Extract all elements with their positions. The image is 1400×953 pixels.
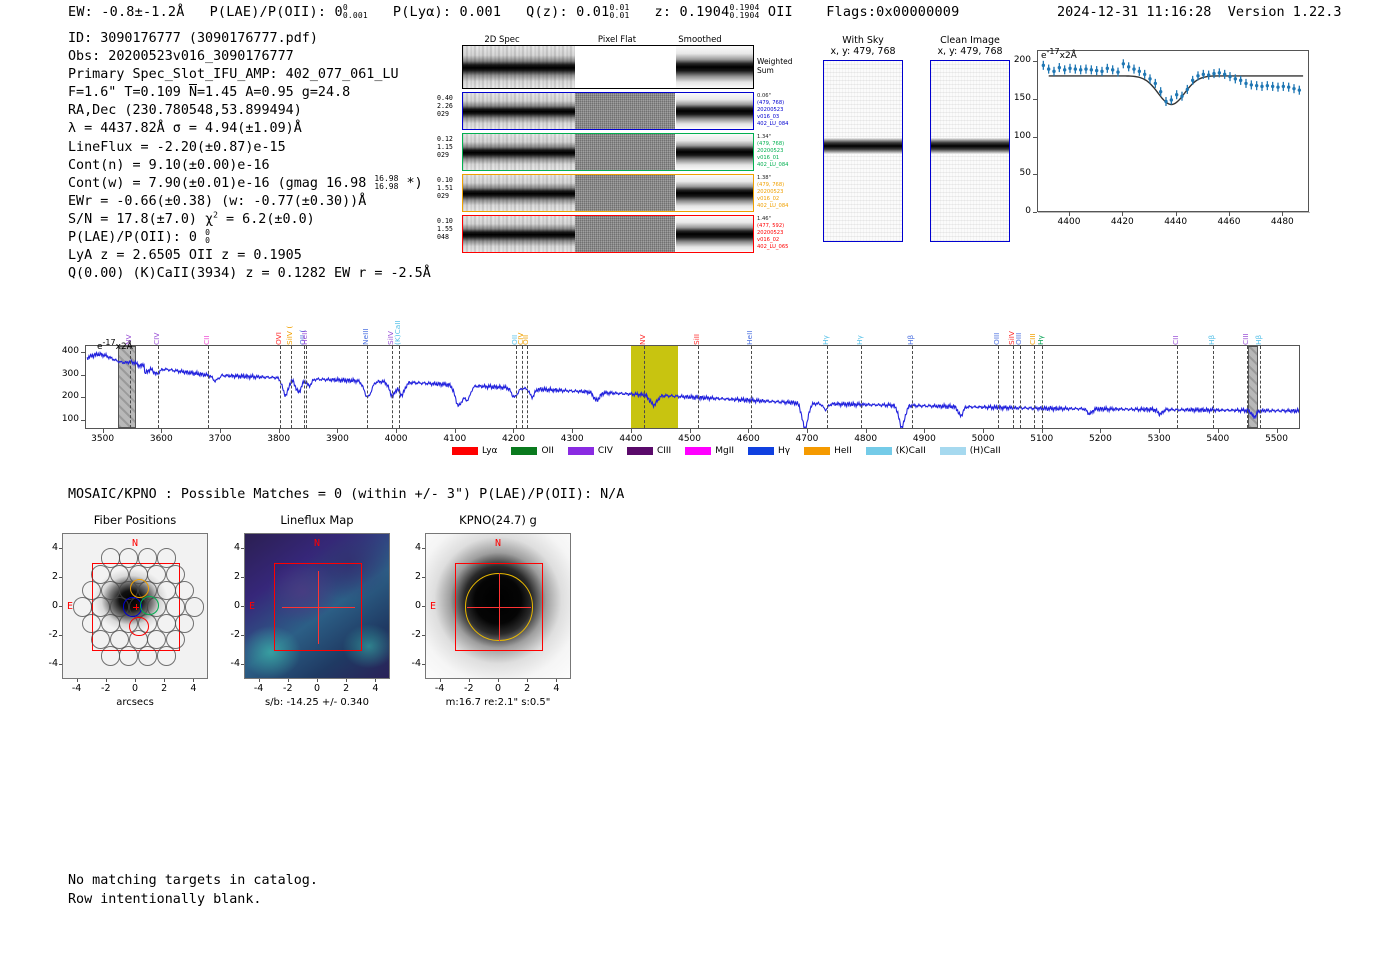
spec2d-segment-2 <box>676 134 753 170</box>
spec2d-row-right-values: 0.06"(479, 768)20200523v016_03402_LU_084 <box>757 93 817 128</box>
spectrum-xtick: 4200 <box>488 434 538 444</box>
fiber-circle <box>119 646 138 665</box>
image-panel-2: NE <box>425 533 571 679</box>
weighted-sum-segment-0 <box>463 46 575 88</box>
spectrum-line-marker <box>1260 346 1261 428</box>
image-panel-xtick-mark <box>527 679 528 682</box>
image-panel-ytick-mark <box>422 606 425 607</box>
image-panel-ytick-mark <box>422 635 425 636</box>
spectrum-line-label: NV <box>639 310 646 345</box>
spectrum-xtick-mark <box>513 429 514 433</box>
image-panel-ytick-mark <box>241 664 244 665</box>
image-panel-xtick: -2 <box>454 683 484 694</box>
image-panel-ytick-mark <box>59 664 62 665</box>
spectrum-line-marker <box>158 346 159 428</box>
header-ew: EW: -0.8±-1.2Å <box>68 4 185 20</box>
fiber-circle <box>175 614 194 633</box>
spec2d-right-value: 1.46" <box>757 216 817 223</box>
spectrum-legend-swatch <box>568 447 594 455</box>
spectrum-xtick: 4900 <box>899 434 949 444</box>
spec2d-right-value: (479, 768) <box>757 141 817 148</box>
detection-info-block: ID: 3090176777 (3090176777.pdf) Obs: 202… <box>68 30 431 283</box>
spectrum-line-label: Hγ <box>822 310 829 345</box>
spectrum-xtick-mark <box>103 429 104 433</box>
image-panel-ytick: -2 <box>36 629 58 640</box>
line-fit-xtick: 4400 <box>1049 217 1089 227</box>
spectrum-line-marker <box>367 346 368 428</box>
image-panel-ytick-mark <box>422 664 425 665</box>
line-fit-ytick-mark <box>1033 61 1037 62</box>
image-panel-xtick-mark <box>317 679 318 682</box>
image-panel-xtick: 0 <box>302 683 332 694</box>
line-fit-xtick-mark <box>1069 212 1070 216</box>
spectrum-xtick-mark <box>337 429 338 433</box>
spec2d-segment-0 <box>463 134 575 170</box>
spec2d-segment-2 <box>676 175 753 211</box>
header-qz-label: Q(z): 0.01 <box>526 4 609 20</box>
spectrum-line-marker <box>208 346 209 428</box>
spectrum-line-marker <box>1013 346 1014 428</box>
spectrum-xtick-mark <box>279 429 280 433</box>
image-panel-xtick-mark <box>135 679 136 682</box>
image-panel-ytick: -4 <box>36 658 58 669</box>
spectrum-xtick: 3900 <box>312 434 362 444</box>
spec2d-right-value: v016_02 <box>757 196 817 203</box>
spectrum-ytick: 200 <box>51 391 79 401</box>
image-panel-xtick: 0 <box>483 683 513 694</box>
image-panel-ytick: -2 <box>399 629 421 640</box>
spectrum-xtick-mark <box>455 429 456 433</box>
spectrum-xtick-mark <box>1218 429 1219 433</box>
image-panel-xtick: -2 <box>91 683 121 694</box>
image-panel-ytick: -2 <box>218 629 240 640</box>
spectrum-legend-label: CIII <box>657 446 671 456</box>
spectrum-legend-swatch <box>685 447 711 455</box>
spec2d-right-value: 20200523 <box>757 230 817 237</box>
image-panel-1: NE <box>244 533 390 679</box>
image-panel-ytick: 2 <box>36 571 58 582</box>
spectrum-line-label: CIII <box>1029 281 1036 345</box>
spectrum-line-label: NeIII <box>362 310 369 345</box>
spectrum-xtick-mark <box>1100 429 1101 433</box>
line-fit-ytick: 50 <box>1005 168 1031 178</box>
spectrum-xtick-mark <box>866 429 867 433</box>
spectrum-legend-swatch <box>804 447 830 455</box>
weighted-sum-panel <box>462 45 754 89</box>
line-fit-ytick: 150 <box>1005 93 1031 103</box>
image-panel-xtick: 0 <box>120 683 150 694</box>
spec2d-right-value: v016_03 <box>757 114 817 121</box>
spectrum-xtick-mark <box>161 429 162 433</box>
footer-notes: No matching targets in catalog. Row inte… <box>68 872 318 909</box>
spectrum-line-marker <box>861 346 862 428</box>
info-redshifts: LyA z = 2.6505 OII z = 0.1905 <box>68 247 431 265</box>
line-fit-ytick: 0 <box>1005 206 1031 216</box>
spec2d-right-value: 402_LU_084 <box>757 121 817 128</box>
spectrum-line-marker <box>306 346 307 428</box>
info-primary-spec: Primary Spec_Slot_IFU_AMP: 402_077_061_L… <box>68 66 431 84</box>
spectrum-line-label: OIII <box>993 310 1000 345</box>
spectrum-line-label: HeII <box>301 310 308 345</box>
crosshair-v <box>318 571 319 644</box>
fiber-circle <box>138 646 157 665</box>
weighted-sum-label: Weighted <box>757 57 793 66</box>
spectrum-line-marker <box>399 346 400 428</box>
image-panel-north-label: N <box>132 538 138 549</box>
sky-panel-image-0 <box>823 60 903 242</box>
image-panel-title-1: Lineflux Map <box>222 513 412 527</box>
spectrum-series <box>86 346 1300 429</box>
spectrum-line-marker <box>1034 346 1035 428</box>
spectrum-xtick-mark <box>690 429 691 433</box>
line-fit-ytick: 100 <box>1005 131 1031 141</box>
image-panel-ytick: 4 <box>218 542 240 553</box>
spectrum-legend-swatch <box>866 447 892 455</box>
info-radec: RA,Dec (230.780548,53.899494) <box>68 102 431 120</box>
spectrum-xtick: 4500 <box>665 434 715 444</box>
header-plya: P(Lyα): 0.001 <box>393 4 501 20</box>
info-cont-w: Cont(w) = 7.90(±0.01)e-16 (gmag 16.98 16… <box>68 175 431 193</box>
image-panel-ytick-mark <box>241 577 244 578</box>
spectrum-line-label: CII <box>1172 310 1179 345</box>
fiber-circle <box>110 565 129 584</box>
line-fit-yunit: e-17x2Å <box>1041 51 1077 61</box>
spectrum-line-marker <box>827 346 828 428</box>
spectrum-xtick-mark <box>1277 429 1278 433</box>
fiber-circle-selected <box>129 617 148 636</box>
spec2d-row-right-values: 1.38"(479, 768)20200523v016_02402_LU_084 <box>757 175 817 210</box>
image-panel-caption-2: m:16.7 re:2.1" s:0.5" <box>395 697 601 708</box>
image-panel-xtick: 4 <box>360 683 390 694</box>
spectrum-line-label: OII <box>522 281 529 345</box>
spec2d-left-value: 1.15 <box>437 143 461 151</box>
image-panel-ytick-mark <box>241 548 244 549</box>
spectrum-line-label: Hβ <box>907 310 914 345</box>
spectrum-legend-swatch <box>748 447 774 455</box>
image-panel-xtick: -4 <box>244 683 274 694</box>
image-panel-ytick: 0 <box>36 600 58 611</box>
spectrum-legend-swatch <box>627 447 653 455</box>
line-fit-xtick-mark <box>1176 212 1177 216</box>
spec2d-segment-1 <box>575 134 675 170</box>
spectrum-xtick: 4600 <box>723 434 773 444</box>
image-panel-xtick: -2 <box>273 683 303 694</box>
spec2d-row-right-values: 1.46"(477, 592)20200523v016_02402_LU_065 <box>757 216 817 251</box>
image-panel-ytick-mark <box>59 577 62 578</box>
spec2d-right-value: 402_LU_084 <box>757 203 817 210</box>
crosshair-v <box>499 573 500 640</box>
image-panel-xtick: 2 <box>149 683 179 694</box>
spectrum-line-label: Hγ <box>1037 310 1044 345</box>
image-panel-ytick-mark <box>241 606 244 607</box>
spec2d-left-value: 2.26 <box>437 102 461 110</box>
info-plae-poii: P(LAE)/P(OII): 0 00 <box>68 229 431 247</box>
sky-panel-image-1 <box>930 60 1010 242</box>
fiber-circle <box>73 597 92 616</box>
image-panel-xtick-mark <box>346 679 347 682</box>
spectrum-xtick-mark <box>631 429 632 433</box>
spectrum-xtick-mark <box>1042 429 1043 433</box>
fiber-circle <box>157 614 176 633</box>
spectrum-line-label: Hγ <box>856 310 863 345</box>
image-panel-title-0: Fiber Positions <box>40 513 230 527</box>
info-ewr: EWr = -0.66(±0.38) (w: -0.77(±0.30))Å <box>68 193 431 211</box>
fiber-circle <box>119 548 138 567</box>
image-panel-xtick-mark <box>193 679 194 682</box>
spectrum-legend-label: Lyα <box>482 446 497 456</box>
spec2d-right-value: (479, 768) <box>757 182 817 189</box>
spectrum-line-marker <box>698 346 699 428</box>
spectrum-line-label: CIV <box>153 310 160 345</box>
spectrum-ytick-mark <box>81 375 85 376</box>
sky-panel-coords-0: x, y: 479, 768 <box>803 46 923 57</box>
line-fit-ytick-mark <box>1033 174 1037 175</box>
fiber-circle <box>101 646 120 665</box>
image-panel-ytick: 4 <box>36 542 58 553</box>
spec2d-title-2: Smoothed <box>660 35 740 45</box>
spectrum-legend-label: MgII <box>715 446 734 456</box>
line-fit-xtick-mark <box>1229 212 1230 216</box>
header-z-errors: 0.19040.1904 <box>729 4 759 20</box>
spectrum-ytick: 100 <box>51 414 79 424</box>
header-z-label: z: 0.1904 <box>655 4 730 20</box>
image-panel-xtick: 2 <box>512 683 542 694</box>
spectrum-xtick: 5000 <box>958 434 1008 444</box>
weighted-sum-segment-2 <box>676 46 753 88</box>
fiber-circle <box>138 548 157 567</box>
spectrum-xtick: 5400 <box>1193 434 1243 444</box>
spectrum-xtick: 5100 <box>1017 434 1067 444</box>
spectrum-legend-swatch <box>452 447 478 455</box>
spectrum-legend-swatch <box>511 447 537 455</box>
spectrum-xtick-mark <box>924 429 925 433</box>
fiber-circle <box>185 597 204 616</box>
spec2d-right-value: 402_LU_084 <box>757 162 817 169</box>
info-obs: Obs: 20200523v016_3090176777 <box>68 48 431 66</box>
spectrum-line-marker <box>1042 346 1043 428</box>
image-panel-ytick-mark <box>241 635 244 636</box>
spectrum-legend-label: OII <box>541 446 553 456</box>
header-plae-errors: 00.001 <box>343 4 368 20</box>
spec2d-row-left-values: 0.121.15029 <box>437 135 461 160</box>
spec2d-title-1: Pixel Flat <box>577 35 657 45</box>
header-version: Version 1.22.3 <box>1228 4 1342 20</box>
line-fit-xtick-mark <box>1122 212 1123 216</box>
fiber-circle <box>166 630 185 649</box>
image-panel-xtick-mark <box>375 679 376 682</box>
spectrum-line-marker <box>1177 346 1178 428</box>
spec2d-row-left-values: 0.402.26029 <box>437 94 461 119</box>
spec2d-right-value: 0.06" <box>757 93 817 100</box>
header-datetime: 2024-12-31 11:16:28 <box>1057 4 1211 20</box>
spectrum-line-label: Hβ <box>1208 310 1215 345</box>
footer-line-1: No matching targets in catalog. <box>68 872 318 891</box>
image-panel-title-2: KPNO(24.7) g <box>403 513 593 527</box>
image-panel-ytick-mark <box>59 635 62 636</box>
spectrum-legend-swatch <box>940 447 966 455</box>
image-panel-ytick: 0 <box>218 600 240 611</box>
fiber-circle <box>157 548 176 567</box>
info-cont-n: Cont(n) = 9.10(±0.00)e-16 <box>68 157 431 175</box>
image-panel-ytick: 2 <box>399 571 421 582</box>
line-fit-ytick-mark <box>1033 212 1037 213</box>
spectrum-legend-label: (K)CaII <box>896 446 926 456</box>
line-fit-xtick: 4480 <box>1262 217 1302 227</box>
info-lambda-sigma: λ = 4437.82Å σ = 4.94(±1.09)Å <box>68 120 431 138</box>
spec2d-right-value: 20200523 <box>757 107 817 114</box>
spectrum-line-label: HeII <box>746 310 753 345</box>
image-panel-ytick-mark <box>59 548 62 549</box>
spectrum-xtick: 4000 <box>371 434 421 444</box>
line-fit-frame <box>1037 50 1309 212</box>
image-panel-ytick: -4 <box>399 658 421 669</box>
fiber-circle <box>166 565 185 584</box>
spec2d-left-value: 1.51 <box>437 184 461 192</box>
line-fit-ytick-mark <box>1033 99 1037 100</box>
spectrum-line-label: CII <box>203 310 210 345</box>
image-panel-xtick-mark <box>469 679 470 682</box>
spectrum-line-marker <box>130 346 131 428</box>
spectrum-ytick: 400 <box>51 346 79 356</box>
spectrum-xtick-mark <box>220 429 221 433</box>
spectrum-line-label: SiII <box>693 310 700 345</box>
spectrum-xtick-mark <box>1159 429 1160 433</box>
spectrum-line-label: OIII <box>1015 310 1022 345</box>
info-sn-chi2: S/N = 17.8(±7.0) χ2 = 6.2(±0.0) <box>68 211 431 229</box>
spec2d-right-value: 1.34" <box>757 134 817 141</box>
image-panel-xtick-mark <box>498 679 499 682</box>
spectrum-legend-label: CIV <box>598 446 613 456</box>
image-panel-xtick-mark <box>77 679 78 682</box>
spec2d-right-value: 1.38" <box>757 175 817 182</box>
info-seeing: F=1.6" T=0.109 N=1.45 A=0.95 g=24.8 <box>68 84 431 102</box>
spectrum-line-marker <box>522 346 523 428</box>
image-panel-xtick: -4 <box>62 683 92 694</box>
image-panel-ytick-mark <box>59 606 62 607</box>
spectrum-xtick: 5300 <box>1134 434 1184 444</box>
info-q-line: Q(0.00) (K)CaII(3934) z = 0.1282 EW r = … <box>68 265 431 283</box>
spec2d-segment-0 <box>463 216 575 252</box>
spectrum-xtick: 4300 <box>547 434 597 444</box>
spec2d-right-value: v016_02 <box>757 237 817 244</box>
image-panel-ytick: 2 <box>218 571 240 582</box>
spectrum-xtick: 4400 <box>606 434 656 444</box>
spectrum-line-label: OVI <box>275 310 282 345</box>
fiber-circle <box>82 614 101 633</box>
info-lineflux: LineFlux = -2.20(±0.87)e-15 <box>68 139 431 157</box>
image-panel-xtick-mark <box>106 679 107 682</box>
spectrum-xtick-mark <box>748 429 749 433</box>
spectrum-line-label: CIII <box>1242 310 1249 345</box>
spec2d-left-value: 029 <box>437 151 461 159</box>
spec2d-left-value: 1.55 <box>437 225 461 233</box>
spectrum-line-marker <box>998 346 999 428</box>
image-panel-xtick-mark <box>288 679 289 682</box>
spec2d-right-value: v016_01 <box>757 155 817 162</box>
line-fit-ytick: 200 <box>1005 55 1031 65</box>
spec2d-left-value: 0.10 <box>437 176 461 184</box>
spec2d-segment-1 <box>575 175 675 211</box>
spectrum-xtick-mark <box>396 429 397 433</box>
image-panel-ytick-mark <box>422 577 425 578</box>
image-panel-xtick-mark <box>164 679 165 682</box>
info-id: ID: 3090176777 (3090176777.pdf) <box>68 30 431 48</box>
fiber-circle <box>166 597 185 616</box>
spectrum-ytick-mark <box>81 397 85 398</box>
spectrum-xtick: 4800 <box>841 434 891 444</box>
weighted-sum-label-2: Sum <box>757 66 774 75</box>
spectrum-xtick-mark <box>983 429 984 433</box>
spectrum-line-marker <box>751 346 752 428</box>
spectrum-line-label: NV <box>125 310 132 345</box>
spec2d-segment-2 <box>676 93 753 129</box>
spectrum-ytick: 300 <box>51 369 79 379</box>
image-panel-caption-0: arcsecs <box>32 697 238 708</box>
spectrum-ytick-mark <box>81 352 85 353</box>
fiber-circle <box>101 548 120 567</box>
image-panel-caption-1: s/b: -14.25 +/- 0.340 <box>214 697 420 708</box>
image-panel-north-label: N <box>495 538 501 549</box>
fiber-circle <box>101 614 120 633</box>
line-fit-xtick: 4440 <box>1156 217 1196 227</box>
spec2d-left-value: 048 <box>437 233 461 241</box>
line-fit-xtick: 4460 <box>1209 217 1249 227</box>
spectrum-xtick: 3600 <box>136 434 186 444</box>
spectrum-xtick: 5500 <box>1252 434 1302 444</box>
image-panel-east-label: E <box>430 601 436 612</box>
spectrum-legend: LyαOIICIVCIIIMgIIHγHeII(K)CaII(H)CaII <box>452 446 1015 457</box>
spec2d-segment-2 <box>676 216 753 252</box>
spec2d-row <box>462 215 754 253</box>
sky-panel-trace <box>931 138 1009 154</box>
image-panel-xtick: 4 <box>541 683 571 694</box>
spectrum-xtick-mark <box>807 429 808 433</box>
image-panel-xtick-mark <box>556 679 557 682</box>
fiber-circle <box>157 646 176 665</box>
spectrum-frame <box>85 345 1300 429</box>
spec2d-right-value: (477, 592) <box>757 223 817 230</box>
spec2d-title-0: 2D Spec <box>462 35 542 45</box>
image-panel-ytick-mark <box>422 548 425 549</box>
image-panel-ytick: 4 <box>399 542 421 553</box>
sky-panel-title-0: With Sky <box>803 35 923 46</box>
header-timestamp-version: 2024-12-31 11:16:28 Version 1.22.3 <box>1057 4 1342 20</box>
spectrum-legend-label: HeII <box>834 446 852 456</box>
spectrum-line-marker <box>912 346 913 428</box>
line-fit-xtick: 4420 <box>1102 217 1142 227</box>
spec2d-row-right-values: 1.34"(479, 768)20200523v016_01402_LU_084 <box>757 134 817 169</box>
spec2d-left-value: 029 <box>437 192 461 200</box>
spec2d-left-value: 0.10 <box>437 217 461 225</box>
header-plae-label: P(LAE)/P(OII): 0 <box>210 4 343 20</box>
footer-line-2: Row intentionally blank. <box>68 891 318 910</box>
fiber-circle <box>157 581 176 600</box>
image-panel-xtick: 2 <box>331 683 361 694</box>
image-panel-xtick: -4 <box>425 683 455 694</box>
spec2d-left-value: 029 <box>437 110 461 118</box>
image-panel-ytick: 0 <box>399 600 421 611</box>
spectrum-line-marker <box>280 346 281 428</box>
spec2d-right-value: (479, 768) <box>757 100 817 107</box>
spectrum-line-marker <box>1247 346 1248 428</box>
line-fit-ytick-mark <box>1033 137 1037 138</box>
spectrum-line-label: Hβ <box>1255 310 1262 345</box>
image-panel-ytick: -4 <box>218 658 240 669</box>
spec2d-segment-1 <box>575 93 675 129</box>
spectrum-xtick: 4100 <box>430 434 480 444</box>
spec2d-segment-1 <box>575 216 675 252</box>
fiber-circle <box>91 597 110 616</box>
